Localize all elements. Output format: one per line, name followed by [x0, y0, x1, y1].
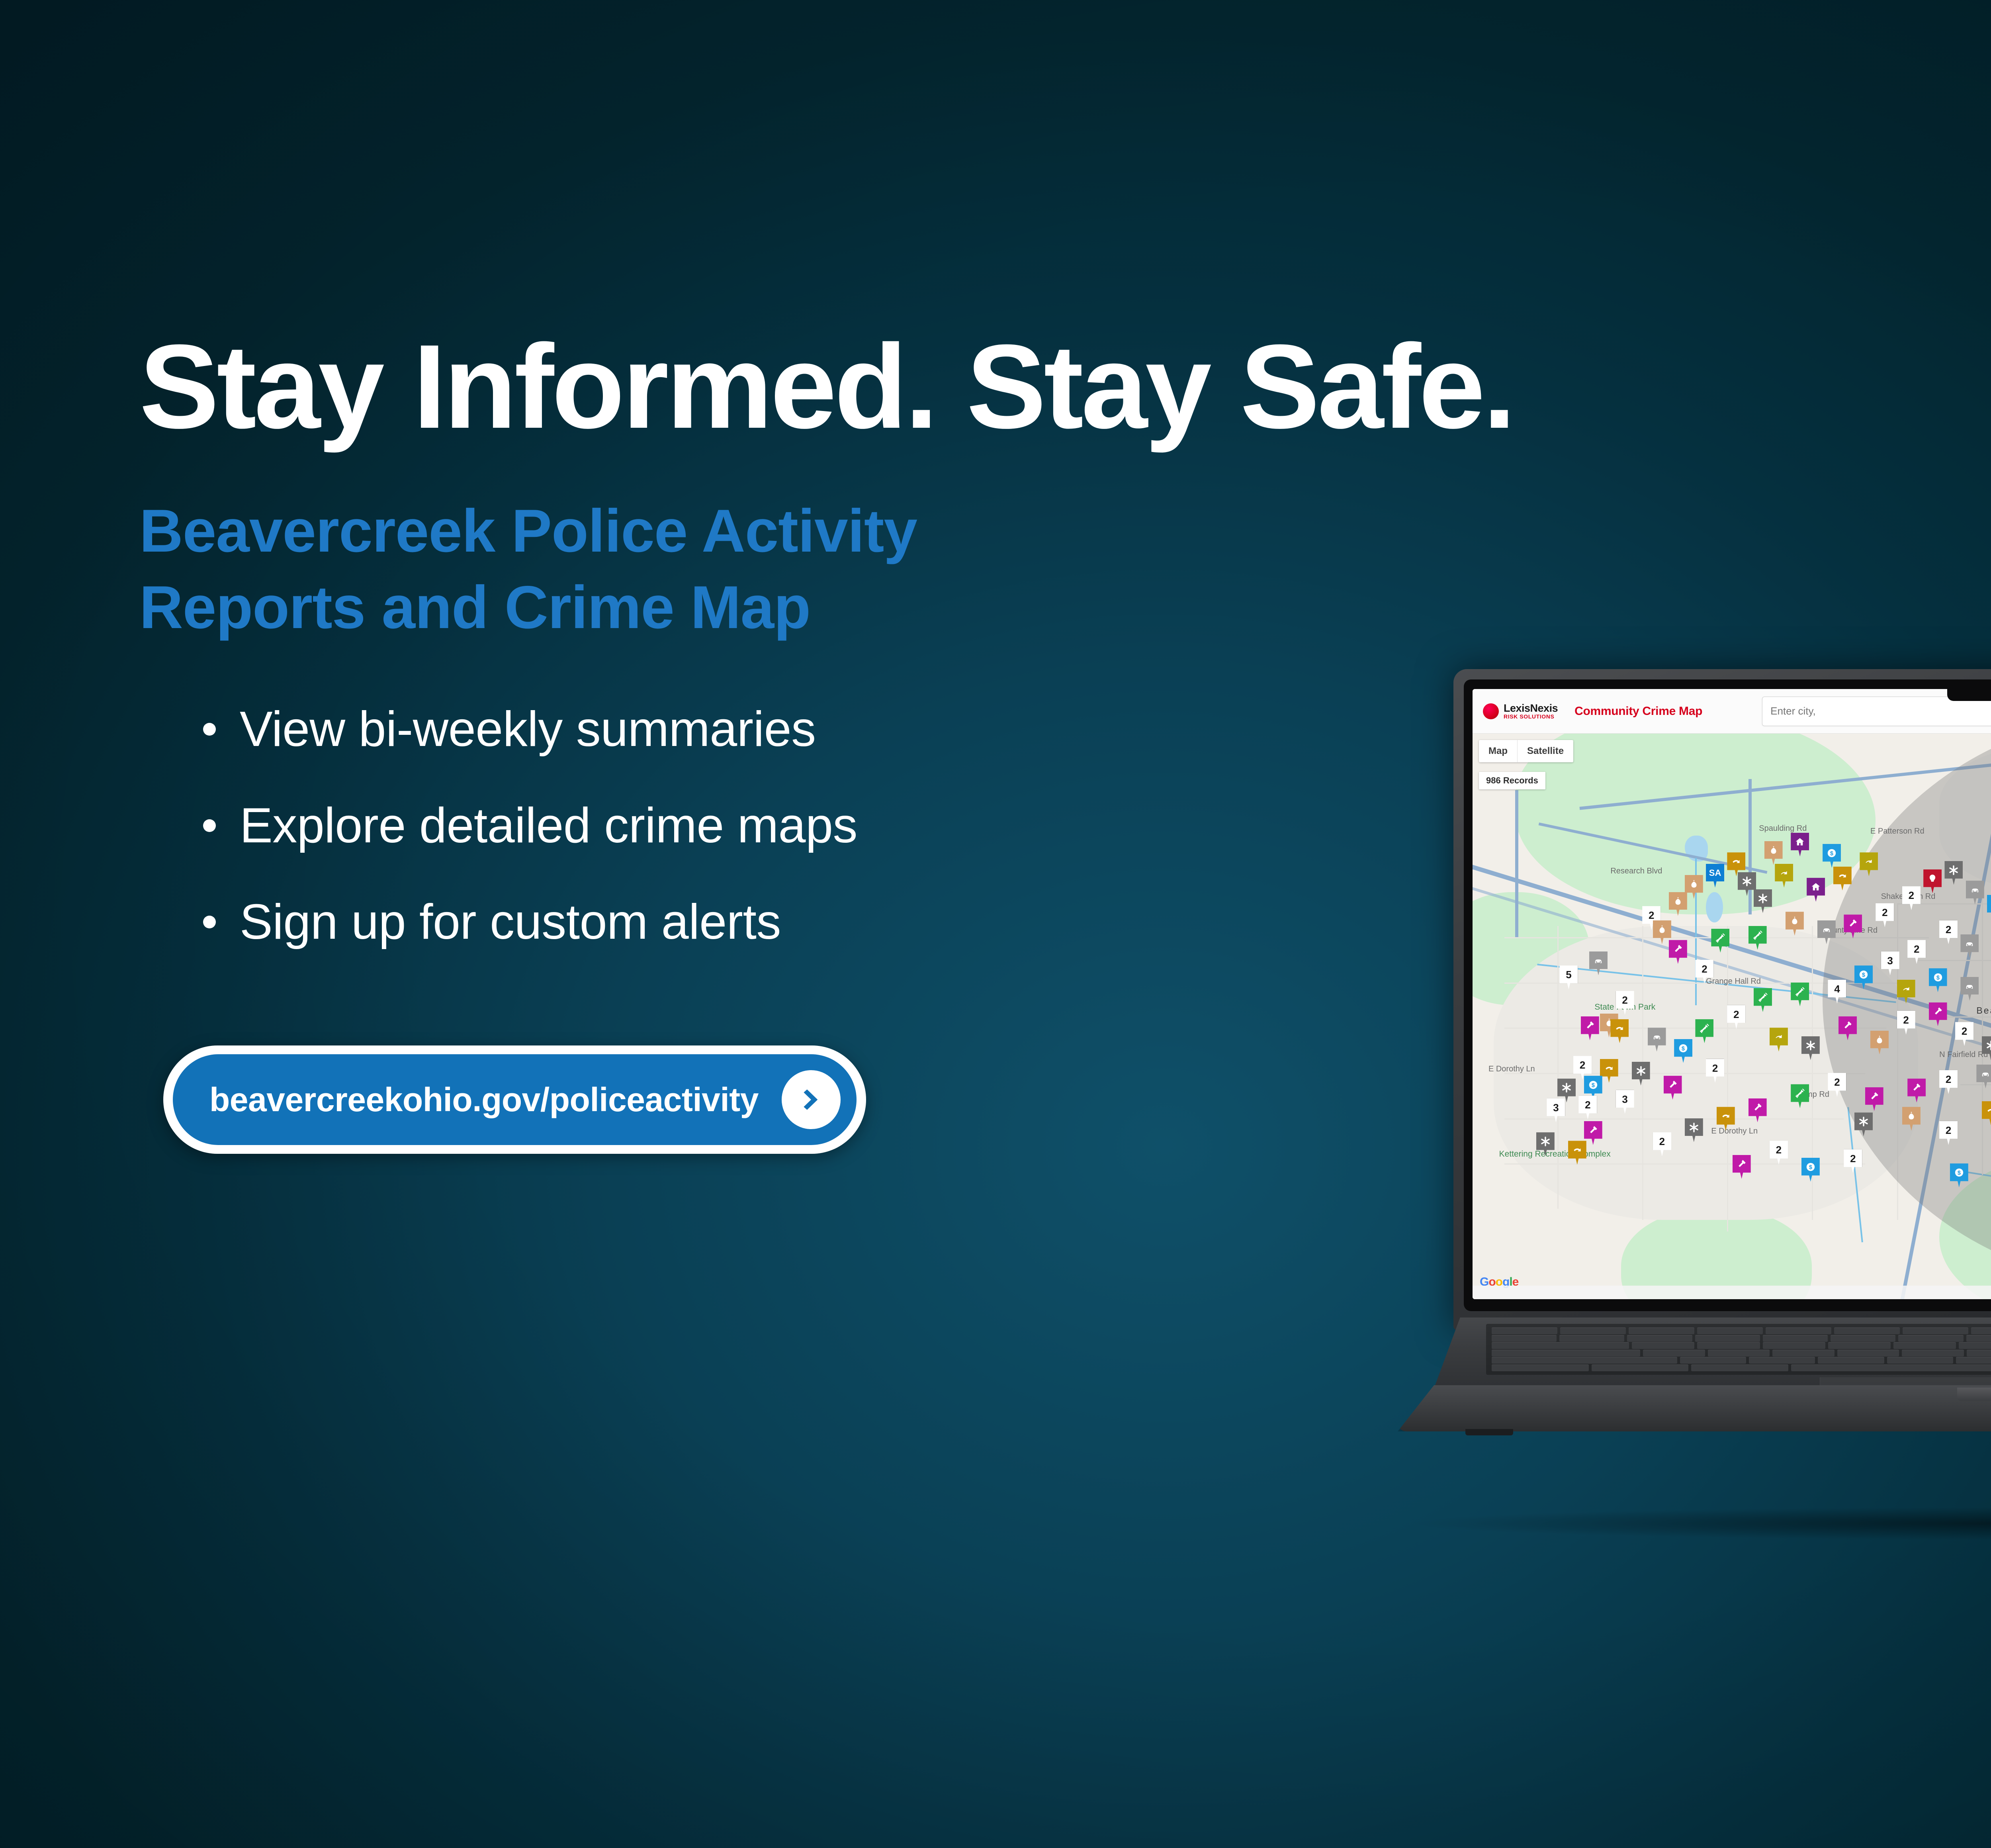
map-pin-incident[interactable] [1929, 1002, 1947, 1026]
vandalism-icon [1869, 1091, 1880, 1102]
fraud-icon: $ [1933, 972, 1943, 983]
pin-count-label: 2 [1580, 1060, 1585, 1070]
pin-count-label: 2 [1946, 1074, 1951, 1085]
vandalism-icon [1933, 1006, 1943, 1017]
theft-icon [1721, 1111, 1731, 1121]
other-icon [1948, 865, 1959, 875]
page-title: Stay Informed. Stay Safe. [139, 327, 1453, 446]
vehicle-icon [1970, 885, 1980, 895]
map-pin-incident[interactable] [1791, 833, 1809, 857]
map-pin-cluster[interactable]: 2 [1907, 940, 1926, 964]
app-title: Community Crime Map [1574, 705, 1702, 718]
map-pin-incident[interactable] [1727, 852, 1745, 876]
map-type-toggle[interactable]: Map Satellite [1479, 740, 1573, 762]
map-pin-incident[interactable] [1966, 881, 1984, 904]
vehicle-icon [1593, 955, 1604, 966]
vehicle-icon [1652, 1032, 1662, 1042]
drugs-icon [1699, 1023, 1709, 1034]
lexisnexis-dot-icon [1483, 703, 1499, 719]
vandalism-icon [1673, 944, 1683, 954]
map-pin-cluster[interactable]: 2 [1955, 1022, 1973, 1046]
map-pin-cluster[interactable]: 2 [1770, 1141, 1788, 1165]
theft-icon [1986, 1105, 1991, 1116]
svg-text:$: $ [1958, 1170, 1961, 1177]
map-pin-cluster[interactable]: 2 [1727, 1005, 1745, 1029]
map-pin-cluster[interactable]: 2 [1897, 1011, 1915, 1035]
map-pin-incident[interactable] [1669, 940, 1687, 964]
theft-icon [1731, 856, 1741, 867]
subtitle-line-2: Reports and Crime Map [139, 570, 1453, 646]
homicide-icon [1927, 873, 1938, 884]
map-attribution-bar: Keyboard shortcuts Map data ©2025 Google… [1473, 1286, 1991, 1299]
chevron-right-icon [782, 1070, 841, 1129]
map-pin-incident[interactable] [1748, 926, 1767, 950]
page-subtitle: Beavercreek Police Activity Reports and … [139, 493, 1453, 646]
bullet-dot-icon [203, 916, 216, 928]
other-icon [1540, 1136, 1551, 1147]
screen-bezel: LexisNexis RISK SOLUTIONS Community Crim… [1464, 679, 1991, 1311]
map-pin-incident[interactable] [1817, 920, 1836, 944]
map-pin-incident[interactable] [1960, 977, 1979, 1001]
bullet-dot-icon [203, 819, 216, 832]
map-tab-satellite[interactable]: Satellite [1517, 740, 1573, 762]
pin-count-label: 3 [1553, 1102, 1559, 1113]
other-icon [1561, 1083, 1572, 1093]
robbery-icon [1811, 882, 1821, 892]
map-pin-incident[interactable] [1770, 1028, 1788, 1051]
map-pin-incident[interactable] [1902, 1107, 1921, 1131]
theft-icon [1604, 1063, 1614, 1073]
drugs-icon [1795, 1088, 1805, 1098]
other-icon [1689, 1122, 1699, 1133]
map-pin-incident[interactable]: $ [1801, 1158, 1820, 1182]
pin-count-label: 2 [1850, 1153, 1856, 1164]
map-pin-incident[interactable] [1568, 1141, 1586, 1165]
cta-url-button[interactable]: beavercreekohio.gov/policeactivity [173, 1054, 857, 1145]
map-pin-incident[interactable] [1775, 864, 1793, 888]
map-pin-cluster[interactable]: 3 [1881, 951, 1899, 975]
cta-button-outer-ring: beavercreekohio.gov/policeactivity [163, 1045, 866, 1154]
svg-text:$: $ [1862, 972, 1865, 979]
map-pin-incident[interactable]: $ [1950, 1163, 1968, 1187]
map-pin-incident[interactable]: $ [1929, 968, 1947, 992]
list-item: View bi-weekly summaries [203, 705, 1453, 754]
pin-count-label: 2 [1776, 1145, 1782, 1155]
svg-text:$: $ [1936, 975, 1939, 981]
map-pin-incident[interactable] [1632, 1062, 1650, 1086]
map-pin-incident[interactable] [1860, 852, 1878, 876]
map-pin-incident[interactable] [1976, 1065, 1991, 1088]
pin-count-label: 2 [1882, 907, 1887, 918]
pin-count-label: 2 [1903, 1015, 1909, 1025]
pin-count-label: 2 [1733, 1009, 1739, 1020]
map-pin-incident[interactable] [1923, 869, 1942, 893]
map-pin-incident[interactable] [1791, 983, 1809, 1006]
vandalism-icon [1585, 1020, 1595, 1031]
map-pin-incident[interactable] [1748, 1098, 1767, 1122]
vandalism-icon [1911, 1083, 1922, 1093]
drugs-icon [1758, 992, 1768, 1002]
other-icon [1758, 893, 1768, 904]
assault-icon: SA [1709, 869, 1721, 877]
robbery-icon [1795, 837, 1805, 847]
weapons-icon [1779, 868, 1789, 878]
pin-count-label: 2 [1909, 890, 1914, 901]
pin-count-label: 2 [1702, 964, 1707, 974]
burglary-icon [1768, 845, 1779, 855]
map-pin-incident[interactable]: $ [1674, 1039, 1692, 1063]
records-count-badge: 986 Records [1479, 772, 1545, 789]
brand-name: LexisNexis [1504, 703, 1558, 714]
map-pin-cluster[interactable]: 2 [1828, 1073, 1846, 1097]
vandalism-icon [1737, 1159, 1747, 1169]
pin-count-label: 2 [1585, 1100, 1590, 1110]
pin-count-label: 3 [1622, 1094, 1627, 1104]
theft-icon [1614, 1023, 1625, 1034]
map-pin-incident[interactable] [1685, 1118, 1703, 1142]
map-pin-incident[interactable] [1960, 934, 1979, 958]
weapons-icon [1864, 856, 1874, 867]
vandalism-icon [1842, 1020, 1853, 1031]
map-pin-incident[interactable] [1695, 1019, 1713, 1043]
map-pin-incident[interactable] [1717, 1107, 1735, 1131]
laptop-base [1346, 1317, 1991, 1437]
bullet-label: Explore detailed crime maps [240, 801, 857, 850]
webcam-notch [1947, 679, 1991, 701]
cta-url-label: beavercreekohio.gov/policeactivity [209, 1081, 759, 1119]
vehicle-icon [1821, 924, 1832, 935]
map-pin-incident[interactable] [1685, 875, 1703, 899]
brand-sub: RISK SOLUTIONS [1504, 714, 1558, 720]
fraud-icon: $ [1678, 1043, 1688, 1053]
drugs-icon [1715, 933, 1725, 943]
map-pin-cluster[interactable]: 5 [1559, 965, 1578, 989]
burglary-icon [1689, 879, 1699, 889]
pin-count-label: 2 [1622, 995, 1627, 1005]
map-pin-cluster[interactable]: 3 [1616, 1090, 1634, 1114]
fraud-icon: $ [1588, 1080, 1598, 1090]
other-icon [1858, 1116, 1869, 1127]
map-pin-incident[interactable] [1870, 1031, 1889, 1055]
search-input[interactable] [1770, 705, 1991, 717]
map-pin-incident[interactable] [1807, 878, 1825, 902]
list-item: Sign up for custom alerts [203, 897, 1453, 947]
svg-text:$: $ [1830, 850, 1833, 857]
map-pin-incident[interactable]: SA [1706, 864, 1724, 888]
other-icon [1986, 1040, 1991, 1051]
map-pin-incident[interactable] [1844, 914, 1862, 938]
fraud-icon: $ [1827, 848, 1837, 858]
map-pin-incident[interactable] [1833, 867, 1852, 891]
burglary-icon [1874, 1035, 1885, 1045]
left-content-column: Stay Informed. Stay Safe. Beavercreek Po… [139, 327, 1453, 1154]
map-pin-cluster[interactable]: 2 [1616, 991, 1634, 1015]
pin-count-label: 2 [1834, 1077, 1840, 1087]
vandalism-icon [1848, 918, 1858, 929]
map-pin-incident[interactable] [1897, 980, 1915, 1004]
map-pin-cluster[interactable]: 2 [1939, 920, 1958, 944]
laptop-keyboard [1486, 1324, 1991, 1375]
map-pin-incident[interactable]: $ [1854, 965, 1873, 989]
laptop-drop-shadow [1418, 1507, 1991, 1539]
map-pin-incident[interactable] [1865, 1087, 1883, 1111]
map-pin-incident[interactable] [1664, 1076, 1682, 1100]
map-pin-incident[interactable] [1733, 1155, 1751, 1179]
other-icon [1636, 1066, 1646, 1076]
laptop-latch-notch [1957, 1388, 1991, 1401]
pin-count-label: 2 [1962, 1026, 1967, 1036]
map-pin-incident[interactable]: $ [1987, 895, 1991, 919]
pin-count-label: 4 [1834, 984, 1840, 994]
map-pin-incident[interactable] [1600, 1059, 1618, 1083]
svg-text:$: $ [1809, 1164, 1812, 1171]
fraud-icon: $ [1954, 1167, 1964, 1178]
map-pin-incident[interactable] [1581, 1016, 1599, 1040]
other-icon [1742, 876, 1752, 887]
map-pin-cluster[interactable]: 2 [1876, 903, 1894, 927]
fraud-icon: $ [1858, 969, 1869, 980]
map-pin-incident[interactable] [1982, 1036, 1991, 1060]
map-pin-incident[interactable] [1610, 1019, 1629, 1043]
weapons-icon [1774, 1032, 1784, 1042]
laptop-screen: LexisNexis RISK SOLUTIONS Community Crim… [1473, 689, 1991, 1299]
map-pin-cluster[interactable]: 2 [1844, 1149, 1862, 1173]
bullet-dot-icon [203, 723, 216, 736]
pin-count-label: 2 [1649, 910, 1654, 920]
fraud-icon: $ [1805, 1162, 1816, 1172]
list-item: Explore detailed crime maps [203, 801, 1453, 850]
subtitle-line-1: Beavercreek Police Activity [139, 493, 1453, 570]
map-pin-incident[interactable] [1764, 841, 1783, 865]
burglary-icon [1673, 896, 1683, 906]
feature-bullet-list: View bi-weekly summaries Explore detaile… [139, 705, 1453, 947]
laptop-base-front [1398, 1385, 1991, 1431]
pin-count-label: 2 [1659, 1136, 1665, 1147]
svg-text:$: $ [1682, 1045, 1685, 1052]
svg-text:$: $ [1592, 1083, 1595, 1089]
map-pin-incident[interactable] [1711, 929, 1729, 953]
pin-count-label: 2 [1914, 944, 1919, 954]
map-pin-incident[interactable] [1838, 1016, 1857, 1040]
lexisnexis-logo[interactable]: LexisNexis RISK SOLUTIONS [1483, 703, 1558, 720]
map-pin-cluster[interactable]: 4 [1828, 980, 1846, 1004]
vandalism-icon [1588, 1125, 1598, 1135]
theft-icon [1572, 1145, 1582, 1155]
laptop-mockup: LexisNexis RISK SOLUTIONS Community Crim… [1346, 669, 1991, 1537]
other-icon [1805, 1040, 1816, 1051]
pin-count-label: 3 [1887, 955, 1893, 966]
map-tab-map[interactable]: Map [1479, 740, 1517, 762]
bullet-label: Sign up for custom alerts [240, 897, 781, 947]
map-pin-incident[interactable] [1982, 1101, 1991, 1125]
map-pin-cluster[interactable]: 2 [1939, 1070, 1958, 1094]
burglary-icon [1790, 916, 1800, 926]
map-pin-incident[interactable] [1791, 1084, 1809, 1108]
map-pin-incident[interactable] [1648, 1028, 1666, 1051]
drugs-icon [1752, 930, 1763, 940]
vehicle-icon [1964, 981, 1975, 991]
drugs-icon [1795, 987, 1805, 997]
map-pin-incident[interactable] [1786, 912, 1804, 936]
map-pin-cluster[interactable]: 3 [1547, 1098, 1565, 1122]
burglary-icon [1657, 924, 1667, 935]
map-pin-incident[interactable]: $ [1823, 844, 1841, 868]
map-pin-incident[interactable] [1754, 889, 1772, 913]
map-pin-incident[interactable] [1944, 861, 1963, 885]
pin-count-label: 2 [1946, 1125, 1951, 1135]
pin-count-label: 2 [1946, 924, 1951, 935]
app-header: LexisNexis RISK SOLUTIONS Community Crim… [1473, 689, 1991, 734]
map-pin-incident[interactable] [1536, 1132, 1555, 1156]
laptop-lid: LexisNexis RISK SOLUTIONS Community Crim… [1453, 669, 1991, 1330]
weapons-icon [1901, 984, 1911, 994]
map-pin-cluster[interactable]: 2 [1578, 1096, 1597, 1120]
burglary-icon [1906, 1111, 1917, 1121]
vandalism-icon [1752, 1102, 1763, 1113]
map-pin-incident[interactable] [1854, 1112, 1873, 1136]
map-pin-cluster[interactable]: 2 [1706, 1059, 1724, 1083]
map-pin-incident[interactable] [1754, 988, 1772, 1012]
bullet-label: View bi-weekly summaries [240, 705, 816, 754]
map-pin-cluster[interactable]: 2 [1902, 886, 1921, 910]
map-pin-incident[interactable] [1907, 1079, 1926, 1102]
map-pin-cluster[interactable]: 2 [1939, 1121, 1958, 1145]
map-pin-incident[interactable] [1589, 951, 1608, 975]
vehicle-icon [1964, 938, 1975, 949]
map-pin-incident[interactable] [1801, 1036, 1820, 1060]
pin-count-label: 5 [1566, 969, 1571, 980]
map-pin-incident[interactable] [1584, 1121, 1602, 1145]
theft-icon [1837, 871, 1848, 881]
crime-map-canvas[interactable]: State Farm ParkBeaver Creek Wetlands Res… [1473, 734, 1991, 1299]
laptop-foot [1465, 1429, 1513, 1435]
map-pin-cluster[interactable]: 2 [1695, 960, 1713, 984]
vandalism-icon [1668, 1080, 1678, 1090]
vehicle-icon [1980, 1069, 1991, 1079]
pin-count-label: 2 [1712, 1063, 1718, 1073]
map-pin-cluster[interactable]: 2 [1653, 1132, 1671, 1156]
